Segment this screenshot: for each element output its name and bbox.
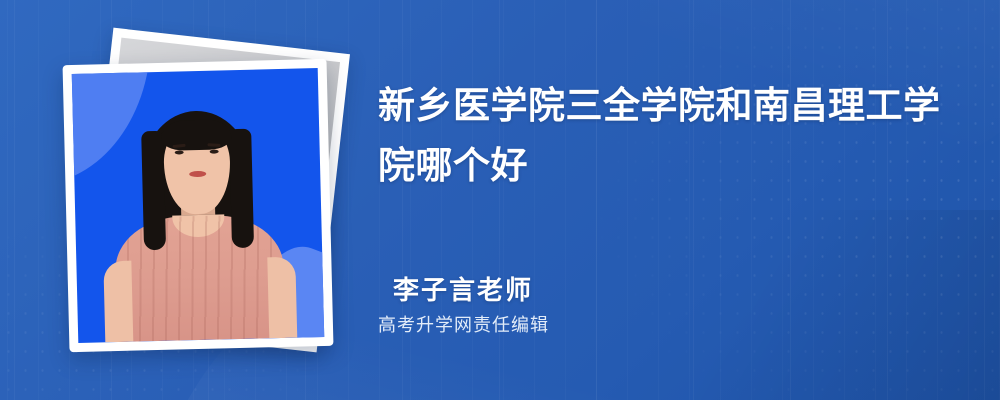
photo-card-front (63, 59, 334, 352)
portrait-hair-strand-left (141, 131, 166, 250)
portrait-fringe (161, 119, 232, 151)
portrait-shoulder-left (103, 261, 133, 342)
portrait-hair-strand-right (229, 129, 254, 248)
portrait-shoulder-right (267, 257, 297, 338)
author-name: 李子言老师 (378, 272, 798, 308)
portrait-figure (72, 68, 324, 343)
author-photo-stack (48, 34, 348, 364)
article-cover-banner: 新乡医学院三全学院和南昌理工学院哪个好 李子言老师 高考升学网责任编辑 (0, 0, 1000, 400)
article-title: 新乡医学院三全学院和南昌理工学院哪个好 (378, 76, 948, 196)
portrait-dress-texture (114, 214, 285, 342)
author-role: 高考升学网责任编辑 (378, 312, 798, 338)
cover-text-block: 新乡医学院三全学院和南昌理工学院哪个好 李子言老师 高考升学网责任编辑 (378, 0, 978, 400)
author-portrait-photo (72, 68, 324, 343)
author-byline: 李子言老师 高考升学网责任编辑 (378, 272, 798, 338)
portrait-eyebrow-right (207, 143, 220, 146)
